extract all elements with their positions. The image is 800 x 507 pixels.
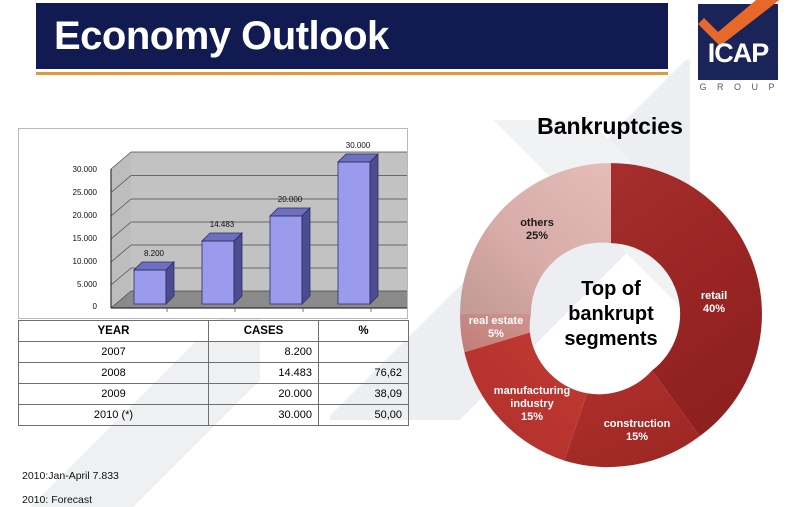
table-header-row: YEAR CASES % <box>19 321 409 342</box>
table-cell-pct <box>319 342 409 363</box>
cases-table: YEAR CASES % 2007 8.200 2008 14.483 76,6… <box>18 320 409 426</box>
bar-chart-ytick-2: 20.000 <box>23 211 97 220</box>
bar-chart-ytick-6: 0 <box>23 302 97 311</box>
table-cell-cases: 30.000 <box>209 405 319 426</box>
table-header-year: YEAR <box>19 321 209 342</box>
logo-group-text: G R O U P <box>698 82 780 92</box>
table-cell-cases: 14.483 <box>209 363 319 384</box>
page-title: Economy Outlook <box>54 10 389 62</box>
bar-chart-ytick-1: 25.000 <box>23 188 97 197</box>
slide-canvas: Economy Outlook ICAP G R O U P <box>0 0 800 507</box>
bar-chart-ytick-5: 5.000 <box>23 280 97 289</box>
table-header-pct: % <box>319 321 409 342</box>
donut-chart-svg <box>457 160 765 468</box>
logo-wordmark: ICAP <box>698 38 778 69</box>
footnote-forecast: 2010: Forecast <box>22 494 92 506</box>
table-cell-pct: 38,09 <box>319 384 409 405</box>
donut-segment-others <box>460 163 611 314</box>
bar-chart-ytick-3: 15.000 <box>23 234 97 243</box>
bar-chart-panel: 30.000 25.000 20.000 15.000 10.000 5.000… <box>18 128 408 319</box>
table-row: 2007 8.200 <box>19 342 409 363</box>
bar-value-label-2008: 14.483 <box>190 220 254 229</box>
bar-chart-ytick-0: 30.000 <box>23 165 97 174</box>
table-cell-year: 2008 <box>19 363 209 384</box>
table-row: 2010 (*) 30.000 50,00 <box>19 405 409 426</box>
table-row: 2008 14.483 76,62 <box>19 363 409 384</box>
bar-chart-ytick-4: 10.000 <box>23 257 97 266</box>
table-cell-pct: 50,00 <box>319 405 409 426</box>
table-cell-cases: 8.200 <box>209 342 319 363</box>
table-cell-pct: 76,62 <box>319 363 409 384</box>
title-underline-rule <box>36 72 668 75</box>
table-cell-year: 2010 (*) <box>19 405 209 426</box>
table-cell-cases: 20.000 <box>209 384 319 405</box>
table-header-cases: CASES <box>209 321 319 342</box>
donut-chart-title: Bankruptcies <box>455 113 765 140</box>
bar-chart-canvas: 30.000 25.000 20.000 15.000 10.000 5.000… <box>19 129 407 318</box>
table-cell-year: 2007 <box>19 342 209 363</box>
bar-value-label-2010: 30.000 <box>326 141 390 150</box>
donut-segment-manufacturing-industry <box>464 332 587 460</box>
table-cell-year: 2009 <box>19 384 209 405</box>
footnote-jan-april: 2010:Jan-April 7.833 <box>22 470 119 482</box>
bar-value-label-2007: 8.200 <box>122 249 186 258</box>
bar-value-label-2009: 20.000 <box>258 195 322 204</box>
donut-chart: Top of bankrupt segments retail 40% cons… <box>457 160 765 468</box>
table-row: 2009 20.000 38,09 <box>19 384 409 405</box>
icap-logo: ICAP G R O U P <box>694 2 786 102</box>
